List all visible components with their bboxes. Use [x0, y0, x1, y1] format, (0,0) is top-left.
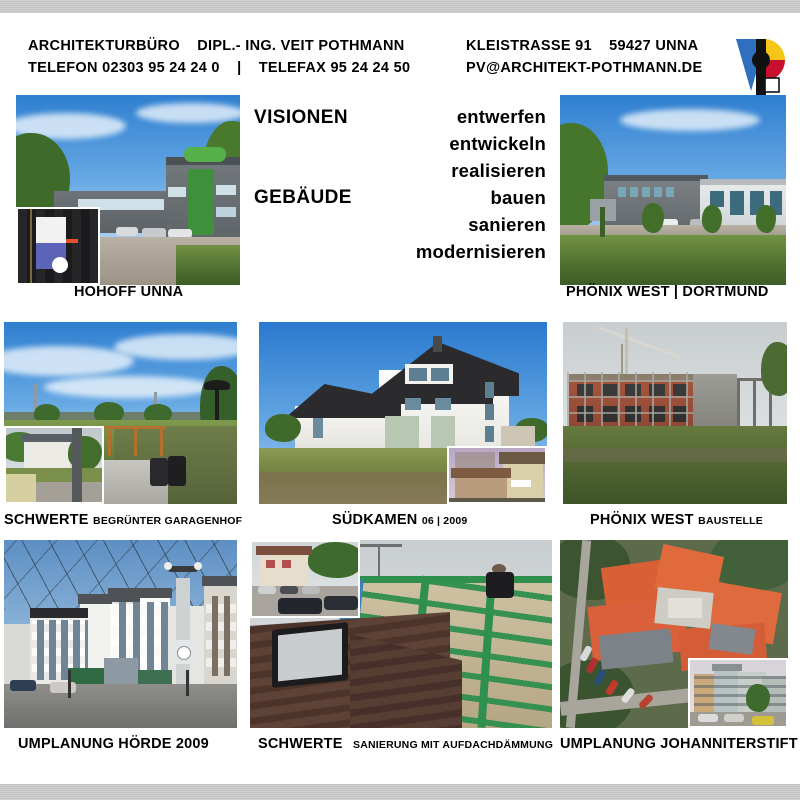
caption-title: SCHWERTE — [258, 736, 343, 752]
keyword-visionen: VISIONEN — [254, 107, 348, 129]
verb-bauen: bauen — [416, 184, 546, 211]
office-name-line: ARCHITEKTURBÜRO DIPL.- ING. VEIT POTHMAN… — [28, 35, 410, 57]
office-email-line: PV@ARCHITEKT-POTHMANN.DE — [466, 57, 702, 79]
tagline-block: VISIONEN GEBÄUDE entwerfen entwickeln re… — [240, 95, 558, 285]
inset-photo-street-view-apartments[interactable] — [688, 658, 788, 728]
caption-title: UMPLANUNG JOHANNITERSTIFT — [560, 736, 798, 752]
verb-list: entwerfen entwickeln realisieren bauen s… — [416, 103, 546, 265]
caption-phoenix-west-dortmund: PHÖNIX WEST | DORTMUND — [566, 283, 769, 301]
office-contact-right: KLEISTRASSE 91 59427 UNNA PV@ARCHITEKT-P… — [466, 35, 702, 79]
caption-subtitle: BAUSTELLE — [698, 515, 763, 527]
portfolio-sheet: ARCHITEKTURBÜRO DIPL.- ING. VEIT POTHMAN… — [0, 0, 800, 800]
verb-realisieren: realisieren — [416, 157, 546, 184]
caption-umplanung-hoerde: UMPLANUNG HÖRDE 2009 — [18, 735, 209, 753]
project-photo-schwerte-garagenhof[interactable] — [4, 322, 237, 504]
header: ARCHITEKTURBÜRO DIPL.- ING. VEIT POTHMAN… — [0, 13, 800, 95]
office-contact-left: ARCHITEKTURBÜRO DIPL.- ING. VEIT POTHMAN… — [28, 35, 410, 79]
caption-schwerte-garagenhof: SCHWERTE BEGRÜNTER GARAGENHOF — [4, 511, 242, 529]
inset-photo-apartments[interactable] — [4, 426, 104, 504]
bottom-edge-band — [0, 784, 800, 800]
caption-title: PHÖNIX WEST | DORTMUND — [566, 284, 769, 300]
inset-photo-courtyard-parking[interactable] — [250, 540, 360, 618]
vp-monogram-logo — [734, 33, 790, 99]
caption-title: PHÖNIX WEST — [590, 512, 694, 528]
top-edge-band — [0, 0, 800, 13]
project-photo-schwerte-aufdachdaemmung[interactable] — [250, 540, 552, 728]
caption-title: HOHOFF UNNA — [74, 284, 183, 300]
office-phone-line: TELEFON 02303 95 24 24 0 | TELEFAX 95 24… — [28, 57, 410, 79]
caption-schwerte-aufdachdaemmung: SCHWERTE SANIERUNG MIT AUFDACHDÄMMUNG — [258, 735, 553, 753]
caption-title: SÜDKAMEN — [332, 512, 417, 528]
caption-hohoff-unna: HOHOFF UNNA — [74, 283, 183, 301]
vp-monogram-icon — [734, 33, 790, 99]
caption-subtitle: 06 | 2009 — [422, 515, 468, 527]
caption-suedkamen: SÜDKAMEN 06 | 2009 — [332, 511, 467, 529]
verb-entwickeln: entwickeln — [416, 130, 546, 157]
inset-photo-site-plan[interactable] — [16, 207, 100, 285]
caption-subtitle: SANIERUNG MIT AUFDACHDÄMMUNG — [347, 739, 553, 751]
project-photo-suedkamen[interactable] — [259, 322, 547, 504]
caption-subtitle: BEGRÜNTER GARAGENHOF — [93, 515, 242, 527]
caption-phoenix-west-baustelle: PHÖNIX WEST BAUSTELLE — [590, 511, 763, 529]
verb-sanieren: sanieren — [416, 211, 546, 238]
project-photo-umplanung-hoerde[interactable] — [4, 540, 237, 728]
project-photo-phoenix-west-baustelle[interactable] — [563, 322, 787, 504]
verb-modernisieren: modernisieren — [416, 238, 546, 265]
caption-title: UMPLANUNG HÖRDE 2009 — [18, 736, 209, 752]
project-photo-phoenix-west-dortmund[interactable] — [560, 95, 786, 285]
project-photo-hohoff-unna[interactable] — [16, 95, 240, 285]
inset-photo-old-farmhouse[interactable] — [447, 446, 547, 504]
caption-umplanung-johanniterstift: UMPLANUNG JOHANNITERSTIFT — [560, 735, 798, 753]
keyword-gebaeude: GEBÄUDE — [254, 187, 352, 209]
office-address-line: KLEISTRASSE 91 59427 UNNA — [466, 35, 702, 57]
caption-title: SCHWERTE — [4, 512, 89, 528]
project-photo-umplanung-johanniterstift[interactable] — [560, 540, 788, 728]
verb-entwerfen: entwerfen — [416, 103, 546, 130]
